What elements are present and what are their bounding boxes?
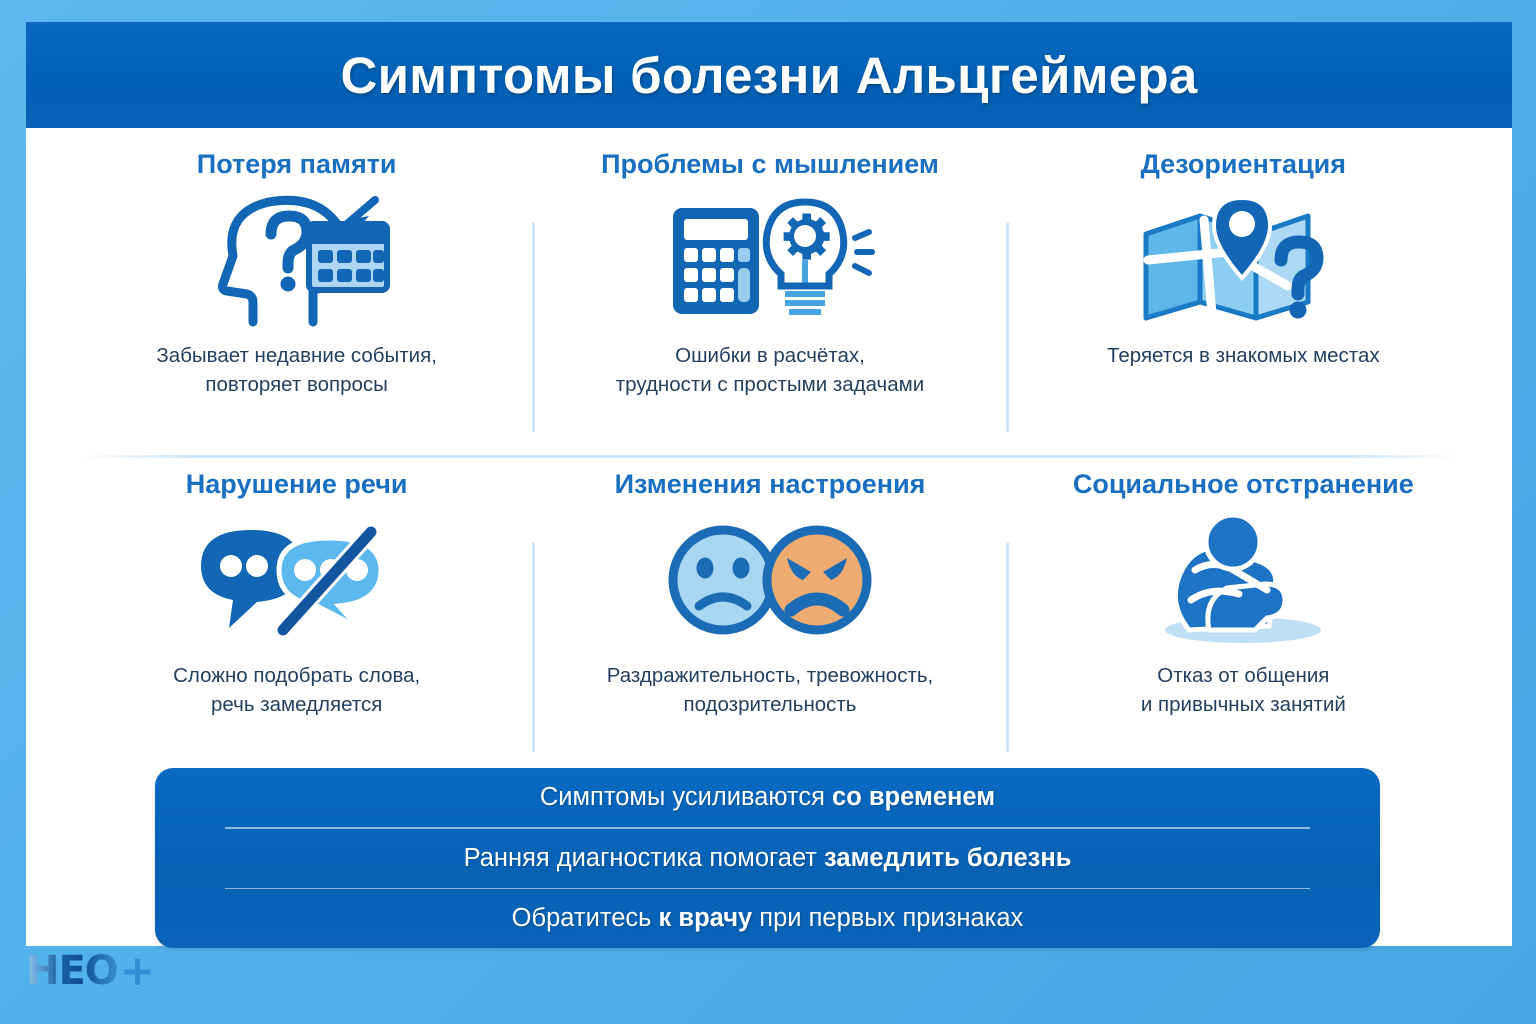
sitting-lonely-person-icon: [1143, 508, 1343, 653]
card-description-line1: Отказ от общения: [1157, 664, 1329, 687]
card-title: Социальное отстранение: [1073, 470, 1414, 500]
banner-line-3-bold: к врачу: [659, 904, 753, 932]
symptom-card-social-withdrawal[interactable]: Социальное отстранение: [1007, 470, 1480, 760]
key-facts-banner: Симптомы усиливаются со временем Ранняя …: [155, 768, 1380, 948]
calculator-lightbulb-gear-icon: [665, 188, 875, 333]
infographic-poster: Симптомы болезни Альцгеймера Потеря памя…: [0, 0, 1536, 1024]
banner-line-2-bold: замедлить болезнь: [824, 844, 1071, 872]
speech-bubbles-slash-icon: [189, 508, 404, 653]
card-title: Изменения настроения: [615, 470, 926, 500]
symptom-card-disorientation[interactable]: Дезориентация: [1007, 150, 1480, 440]
symptom-grid: Потеря памяти: [60, 150, 1480, 760]
banner-line-1-bold: со временем: [832, 783, 995, 811]
banner-line-3-tail: при первых признаках: [752, 904, 1023, 932]
card-description-line2: подозрительность: [683, 693, 856, 716]
symptom-card-memory-loss[interactable]: Потеря памяти: [60, 150, 533, 440]
map-pin-question-icon: [1138, 188, 1348, 333]
symptom-card-speech-impairment[interactable]: Нарушение речи: [60, 470, 533, 760]
brand-logo[interactable]: НЕО+: [26, 950, 154, 992]
symptom-card-mood-changes[interactable]: Изменения настроения: [533, 470, 1006, 760]
brand-logo-plus-icon: +: [120, 950, 154, 992]
card-description-line1: Забывает недавние события,: [156, 344, 437, 367]
page-title: Симптомы болезни Альцгеймера: [341, 46, 1198, 105]
card-description: Теряется в знакомых местах: [1107, 341, 1380, 370]
card-description: Отказ от общения и привычных занятий: [1141, 661, 1346, 719]
card-title: Проблемы с мышлением: [601, 150, 939, 180]
card-description-line2: речь замедляется: [211, 693, 382, 716]
card-description-line1: Раздражительность, тревожность,: [607, 664, 933, 687]
card-description: Ошибки в расчётах, трудности с простыми …: [616, 341, 924, 399]
card-title: Дезориентация: [1141, 150, 1346, 180]
symptom-row-2: Нарушение речи: [60, 470, 1480, 760]
brand-logo-text: НЕО: [26, 951, 118, 991]
card-description-line2: трудности с простыми задачами: [616, 373, 924, 396]
banner-line-1: Симптомы усиливаются со временем: [540, 768, 995, 827]
card-title: Нарушение речи: [186, 470, 408, 500]
card-description-line1: Сложно подобрать слова,: [173, 664, 420, 687]
card-description: Раздражительность, тревожность, подозрит…: [607, 661, 933, 719]
card-description-line2: повторяет вопросы: [205, 373, 388, 396]
card-description-line2: и привычных занятий: [1141, 693, 1346, 716]
card-description: Забывает недавние события, повторяет воп…: [156, 341, 437, 399]
header-band: Симптомы болезни Альцгеймера: [26, 22, 1512, 128]
banner-line-2-normal: Ранняя диагностика помогает: [464, 844, 824, 872]
banner-line-1-normal: Симптомы усиливаются: [540, 783, 832, 811]
symptom-row-1: Потеря памяти: [60, 150, 1480, 440]
symptom-card-thinking-problems[interactable]: Проблемы с мышлением: [533, 150, 1006, 440]
banner-line-3-normal: Обратитесь: [512, 904, 659, 932]
row-divider: [80, 455, 1460, 458]
sad-angry-faces-icon: [665, 508, 875, 653]
card-description-line1: Ошибки в расчётах,: [675, 344, 865, 367]
card-title: Потеря памяти: [197, 150, 397, 180]
banner-line-3: Обратитесь к врачу при первых признаках: [512, 889, 1024, 948]
card-description: Сложно подобрать слова, речь замедляется: [173, 661, 420, 719]
banner-line-2: Ранняя диагностика помогает замедлить бо…: [464, 829, 1072, 888]
head-question-calendar-icon: [197, 188, 397, 333]
card-description-line1: Теряется в знакомых местах: [1107, 344, 1380, 367]
